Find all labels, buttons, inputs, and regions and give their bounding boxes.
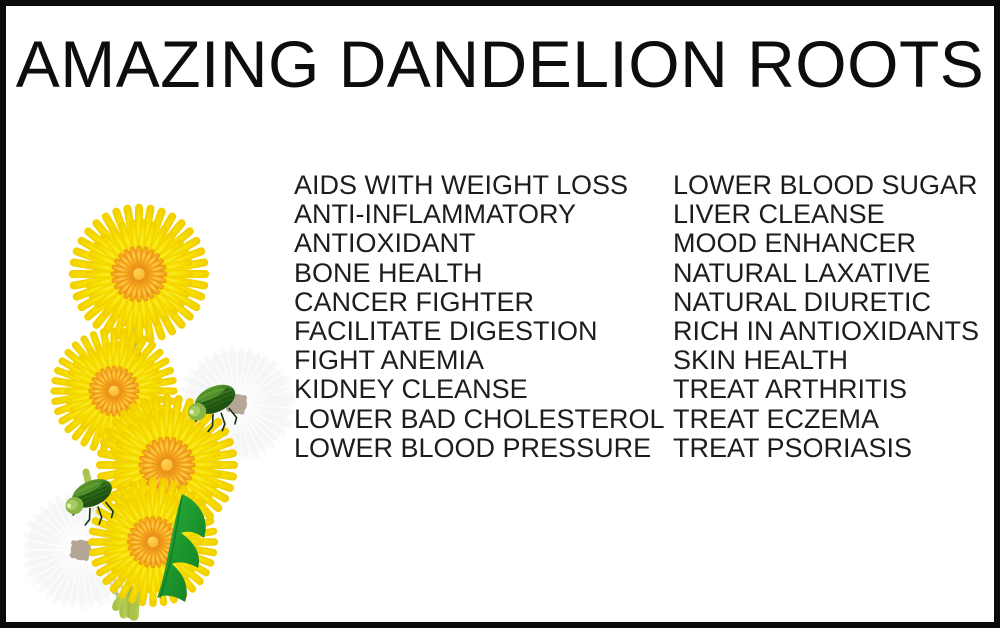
benefit-item: FIGHT ANEMIA: [294, 346, 665, 375]
benefit-item: RICH IN ANTIOXIDANTS: [673, 317, 979, 346]
poster-canvas: AMAZING DANDELION ROOTS: [0, 0, 1000, 628]
benefit-item: ANTI-INFLAMMATORY: [294, 200, 665, 229]
benefit-item: LIVER CLEANSE: [673, 200, 979, 229]
benefit-item: CANCER FIGHTER: [294, 288, 665, 317]
benefit-item: NATURAL LAXATIVE: [673, 259, 979, 288]
dandelion-flower: [69, 204, 210, 345]
benefit-item: LOWER BLOOD SUGAR: [673, 171, 979, 200]
benefit-item: TREAT PSORIASIS: [673, 434, 979, 463]
dandelion-illustration: [24, 102, 314, 622]
page-title: AMAZING DANDELION ROOTS: [6, 28, 994, 100]
benefit-item: ANTIOXIDANT: [294, 229, 665, 258]
benefits-left-column: AIDS WITH WEIGHT LOSS ANTI-INFLAMMATORY …: [294, 171, 665, 463]
benefit-item: SKIN HEALTH: [673, 346, 979, 375]
benefit-item: LOWER BAD CHOLESTEROL: [294, 405, 665, 434]
benefit-item: LOWER BLOOD PRESSURE: [294, 434, 665, 463]
benefit-item: KIDNEY CLEANSE: [294, 375, 665, 404]
benefit-item: NATURAL DIURETIC: [673, 288, 979, 317]
benefit-item: MOOD ENHANCER: [673, 229, 979, 258]
benefits-right-column: LOWER BLOOD SUGAR LIVER CLEANSE MOOD ENH…: [673, 171, 979, 463]
benefit-item: TREAT ECZEMA: [673, 405, 979, 434]
benefit-item: BONE HEALTH: [294, 259, 665, 288]
benefit-item: AIDS WITH WEIGHT LOSS: [294, 171, 665, 200]
benefit-item: FACILITATE DIGESTION: [294, 317, 665, 346]
benefit-item: TREAT ARTHRITIS: [673, 375, 979, 404]
